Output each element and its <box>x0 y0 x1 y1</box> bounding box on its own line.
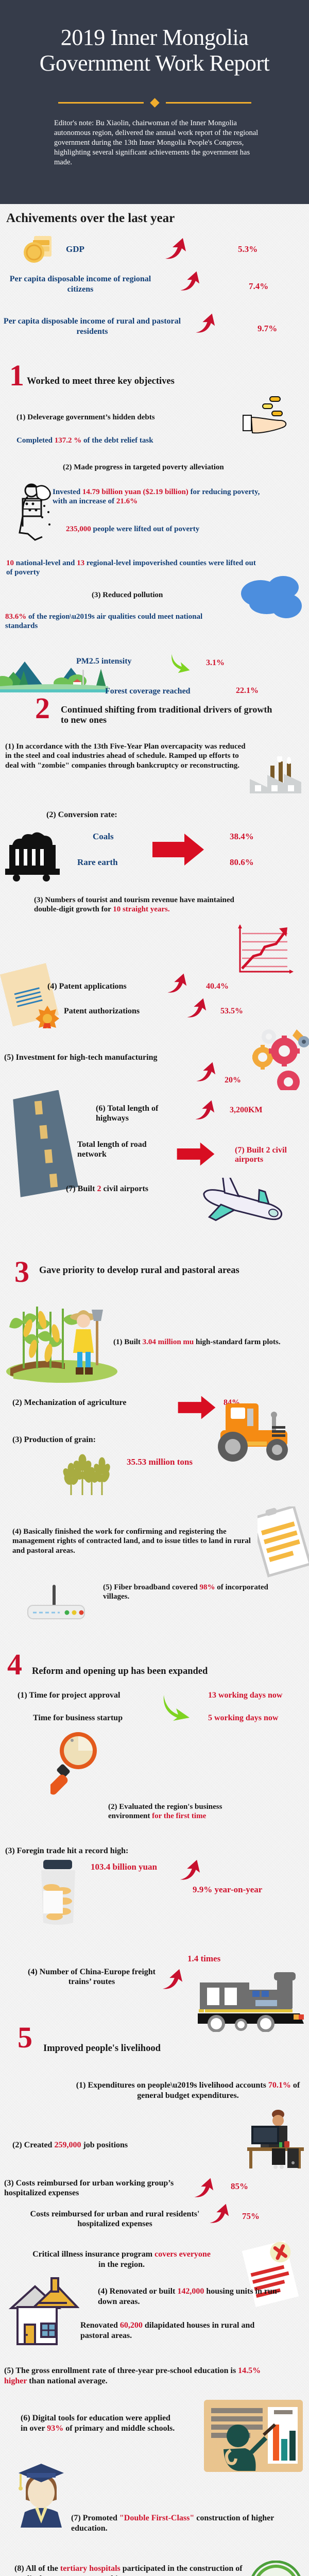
section-3-number: 3 <box>14 1260 29 1284</box>
growth-chart-icon <box>236 924 294 977</box>
section-5-line-7: (4) Renovated or built 142,000 housing u… <box>98 2286 288 2307</box>
house-icon <box>7 2276 79 2348</box>
person-coins-icon <box>12 483 58 545</box>
section-2-line-18: (7) Built 2 civil airports <box>66 1184 148 1194</box>
infographic-page: 2019 Inner Mongolia Government Work Repo… <box>0 0 309 2576</box>
section-1-line-0: (1) Deleverage government’s hidden debts <box>16 413 155 422</box>
certificate-icon <box>0 961 67 1028</box>
section-2-highways-value: 3,200KM <box>230 1106 263 1115</box>
achievement-label-2: Per capita disposable income of rural an… <box>2 316 182 336</box>
section-1-line-8: PM2.5 intensity <box>76 656 132 667</box>
section-1-title: Worked to meet three key objectives <box>27 376 175 387</box>
section-5: 5 Improved people's livelihood (1) Expen… <box>0 1992 309 2548</box>
section-4-line-5: (3) Foregin trade hit a record high: <box>5 1846 128 1856</box>
section-2-patent-app-value: 40.4% <box>206 982 229 991</box>
magnifier-icon <box>50 1729 102 1796</box>
section-5-line-10: (6) Digital tools for education were app… <box>21 2413 175 2433</box>
section-1-line-3: Invested 14.79 billion yuan ($2.19 billi… <box>53 487 269 506</box>
section-2: 2 Continued shifting from traditional dr… <box>0 693 309 1209</box>
section-4-startup-label: Time for business startup <box>33 1714 123 1723</box>
section-5-line-6: Critical illness insurance program cover… <box>29 2249 214 2269</box>
section-1: 1 Worked to meet three key objectives (1… <box>0 364 309 693</box>
arrow-down-icon <box>170 652 192 674</box>
section-4-line-4: (2) Evaluated the region's business envi… <box>108 1802 263 1821</box>
hand-coins-icon <box>242 396 294 440</box>
section-1-head: 1 Worked to meet three key objectives <box>0 364 309 387</box>
divider-bar-right <box>166 102 251 104</box>
section-4-trade-growth: 9.9% year-on-year <box>193 1885 262 1895</box>
factory-icon <box>250 756 303 798</box>
tractor-icon <box>212 1401 295 1463</box>
section-5-line-8: Renovated 60,200 dilapidated houses in r… <box>80 2320 276 2341</box>
section-4-startup-value: 5 working days now <box>208 1714 278 1723</box>
teacher-board-icon <box>202 2399 305 2476</box>
arrow-up-icon <box>193 312 216 334</box>
section-5-line-2: (3) Costs reimbursed for urban working g… <box>4 2178 195 2198</box>
wheat-icon <box>58 1446 114 1497</box>
section-2-line-11: (5) Investment for high-tech manufacturi… <box>4 1053 157 1062</box>
section-1-line-2: (2) Made progress in targeted poverty al… <box>63 463 224 472</box>
arrow-down-icon <box>162 1692 192 1722</box>
section-2-line-1: (2) Conversion rate: <box>46 810 117 820</box>
section-2-coals-label: Coals <box>93 832 114 842</box>
section-1-number: 1 <box>9 364 24 387</box>
section-2-number: 2 <box>35 697 50 720</box>
section-4-freight-label: (4) Number of China-Europe freight train… <box>25 1967 159 1987</box>
arrow-up-icon <box>165 972 187 994</box>
divider-bar-left <box>58 102 144 104</box>
section-1-line-7: 83.6% of the region\u2019s air qualities… <box>5 612 227 631</box>
farmer-corn-icon <box>5 1291 118 1384</box>
section-2-line-6: (3) Numbers of tourist and tourism reven… <box>34 895 261 914</box>
section-1-line-5: 10 national-level and 13 regional-level … <box>6 558 259 578</box>
achievement-value-2: 9.7% <box>257 324 277 334</box>
section-2-title: Continued shifting from traditional driv… <box>61 705 277 725</box>
arrow-up-icon <box>193 1098 215 1121</box>
section-5-number: 5 <box>18 2026 32 2049</box>
arrow-up-icon <box>160 1967 183 1991</box>
office-worker-icon <box>246 2109 308 2169</box>
section-2-patent-auth-label: Patent authorizations <box>64 1007 140 1016</box>
section-4-freight-value: 1.4 times <box>187 1954 220 1964</box>
arrow-up-icon <box>194 1060 216 1083</box>
section-2-coals-value: 38.4% <box>230 832 254 842</box>
section-3-line-0: (1) Built 3.04 million mu high-standard … <box>113 1337 294 1347</box>
section-5-line-11: (7) Promoted "Double First-Class" constr… <box>71 2513 293 2533</box>
section-1-value-pm: 3.1% <box>206 658 225 668</box>
section-5-line-4: Costs reimbursed for urban and rural res… <box>25 2209 205 2229</box>
section-3-line-3: (3) Production of grain: <box>12 1435 96 1445</box>
arrow-right-icon <box>176 1395 217 1420</box>
page-title: 2019 Inner Mongolia Government Work Repo… <box>23 25 286 76</box>
section-3-line-5: (4) Basically finished the work for conf… <box>12 1527 260 1555</box>
section-6: (8) All of the tertiary hospitals partic… <box>0 2548 309 2576</box>
cloud-icon <box>231 574 303 625</box>
section-4: 4 Reform and opening up has been expande… <box>0 1641 309 1992</box>
document-icon <box>257 1506 309 1589</box>
section-1-line-1: Completed 137.2 % of the debt relief tas… <box>16 436 153 445</box>
section-2-roadnet-label: Total length of road network <box>77 1140 175 1159</box>
coal-icon <box>5 826 62 882</box>
section-5-value-75: 75% <box>242 2211 260 2222</box>
section-1-line-4: 235,000 people were lifted out of povert… <box>66 524 199 534</box>
section-4-number: 4 <box>7 1653 22 1676</box>
achievement-value-0: 5.3% <box>238 244 257 255</box>
section-2-hightech-value: 20% <box>225 1076 241 1085</box>
arrow-up-icon <box>184 996 207 1019</box>
section-3-mech-label: (2) Mechanization of agriculture <box>12 1398 126 1408</box>
section-2-highways-label: (6) Total length of highways <box>96 1104 178 1123</box>
achievement-label-1: Per capita disposable income of regional… <box>3 274 158 294</box>
section-5-title: Improved people's livelihood <box>43 2043 161 2054</box>
section-4-approval-label: (1) Time for project approval <box>18 1691 120 1700</box>
section-5-value-85: 85% <box>231 2181 248 2192</box>
hero-divider <box>23 99 286 106</box>
section-2-patent-app-label: (4) Patent applications <box>47 982 127 991</box>
section-5-line-1: (2) Created 259,000 job positions <box>12 2140 128 2150</box>
achievement-label-0: GDP <box>66 244 84 255</box>
arrow-right-icon <box>152 833 204 867</box>
router-icon <box>26 1584 88 1625</box>
gears-robotarm-icon <box>252 1028 309 1090</box>
hero-banner: 2019 Inner Mongolia Government Work Repo… <box>0 0 309 204</box>
road-icon <box>9 1090 81 1198</box>
section-2-patent-auth-value: 53.5% <box>220 1007 243 1016</box>
section-2-rareearth-label: Rare earth <box>77 857 118 868</box>
arrow-up-icon <box>192 2176 214 2199</box>
arrow-up-icon <box>207 2202 230 2225</box>
coins-icon <box>21 234 57 266</box>
section-3-title: Gave priority to develop rural and pasto… <box>39 1265 297 1276</box>
section-4-approval-value: 13 working days now <box>208 1691 282 1700</box>
achievements-section: Achivements over the last year GDP 5.3% … <box>0 204 309 364</box>
handshake-icon <box>249 2561 303 2576</box>
arrow-up-icon <box>162 237 187 260</box>
section-5-line-0: (1) Expenditures on people\u2019s liveli… <box>72 2080 304 2100</box>
section-2-rareearth-value: 80.6% <box>230 857 254 868</box>
section-5-line-12: (8) All of the tertiary hospitals partic… <box>14 2564 256 2576</box>
section-2-roadnet-value: (7) Built 2 civil airports <box>235 1146 309 1164</box>
coin-jar-icon <box>35 1859 81 1926</box>
section-4-title: Reform and opening up has been expanded <box>32 1666 208 1677</box>
arrow-right-icon <box>175 1142 216 1166</box>
arrow-up-icon <box>178 270 200 292</box>
section-3-line-6: (5) Fiber broadband covered 98% of incor… <box>103 1583 273 1602</box>
section-3: 3 Gave priority to develop rural and pas… <box>0 1209 309 1641</box>
editors-note: Editor's note: Bu Xiaolin, chairwoman of… <box>23 118 286 167</box>
graduate-icon <box>15 2461 67 2528</box>
achievements-heading: Achivements over the last year <box>0 204 309 228</box>
diamond-icon <box>150 98 159 108</box>
section-4-trade-value: 103.4 billion yuan <box>91 1862 157 1872</box>
section-5-line-9: (5) The gross enrollment rate of three-y… <box>4 2366 262 2386</box>
section-1-line-6: (3) Reduced pollution <box>92 590 163 600</box>
arrow-up-icon <box>177 1858 201 1882</box>
section-2-line-0: (1) In accordance with the 13th Five-Yea… <box>5 742 247 770</box>
section-3-grain-value: 35.53 million tons <box>127 1457 193 1467</box>
achievement-value-1: 7.4% <box>249 281 268 292</box>
